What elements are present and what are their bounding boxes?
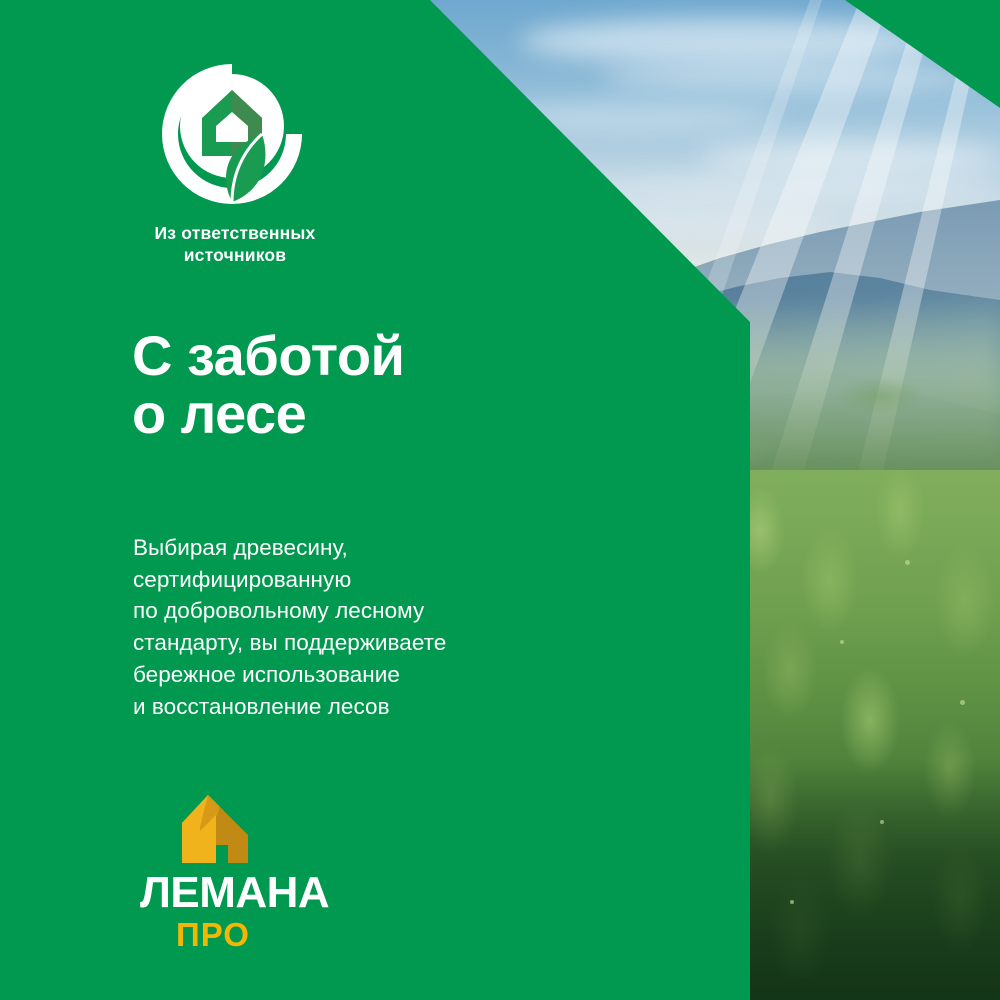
responsible-sourcing-caption: Из ответственных источников: [130, 222, 340, 266]
responsible-sourcing-badge: Из ответственных источников: [130, 60, 430, 266]
body-copy: Выбирая древесину, сертифицированную по …: [133, 532, 446, 722]
brand-subtitle: ПРО: [176, 918, 370, 951]
responsible-sourcing-seal-icon: [158, 60, 306, 208]
poster-root: Из ответственных источников С заботой о …: [0, 0, 1000, 1000]
poster-content: Из ответственных источников С заботой о …: [0, 0, 1000, 1000]
page-title: С заботой о лесе: [132, 327, 404, 443]
lemana-house-icon: [176, 793, 254, 865]
brand-lockup: ЛЕМАНА ПРО: [140, 793, 370, 951]
brand-name: ЛЕМАНА: [140, 871, 370, 915]
